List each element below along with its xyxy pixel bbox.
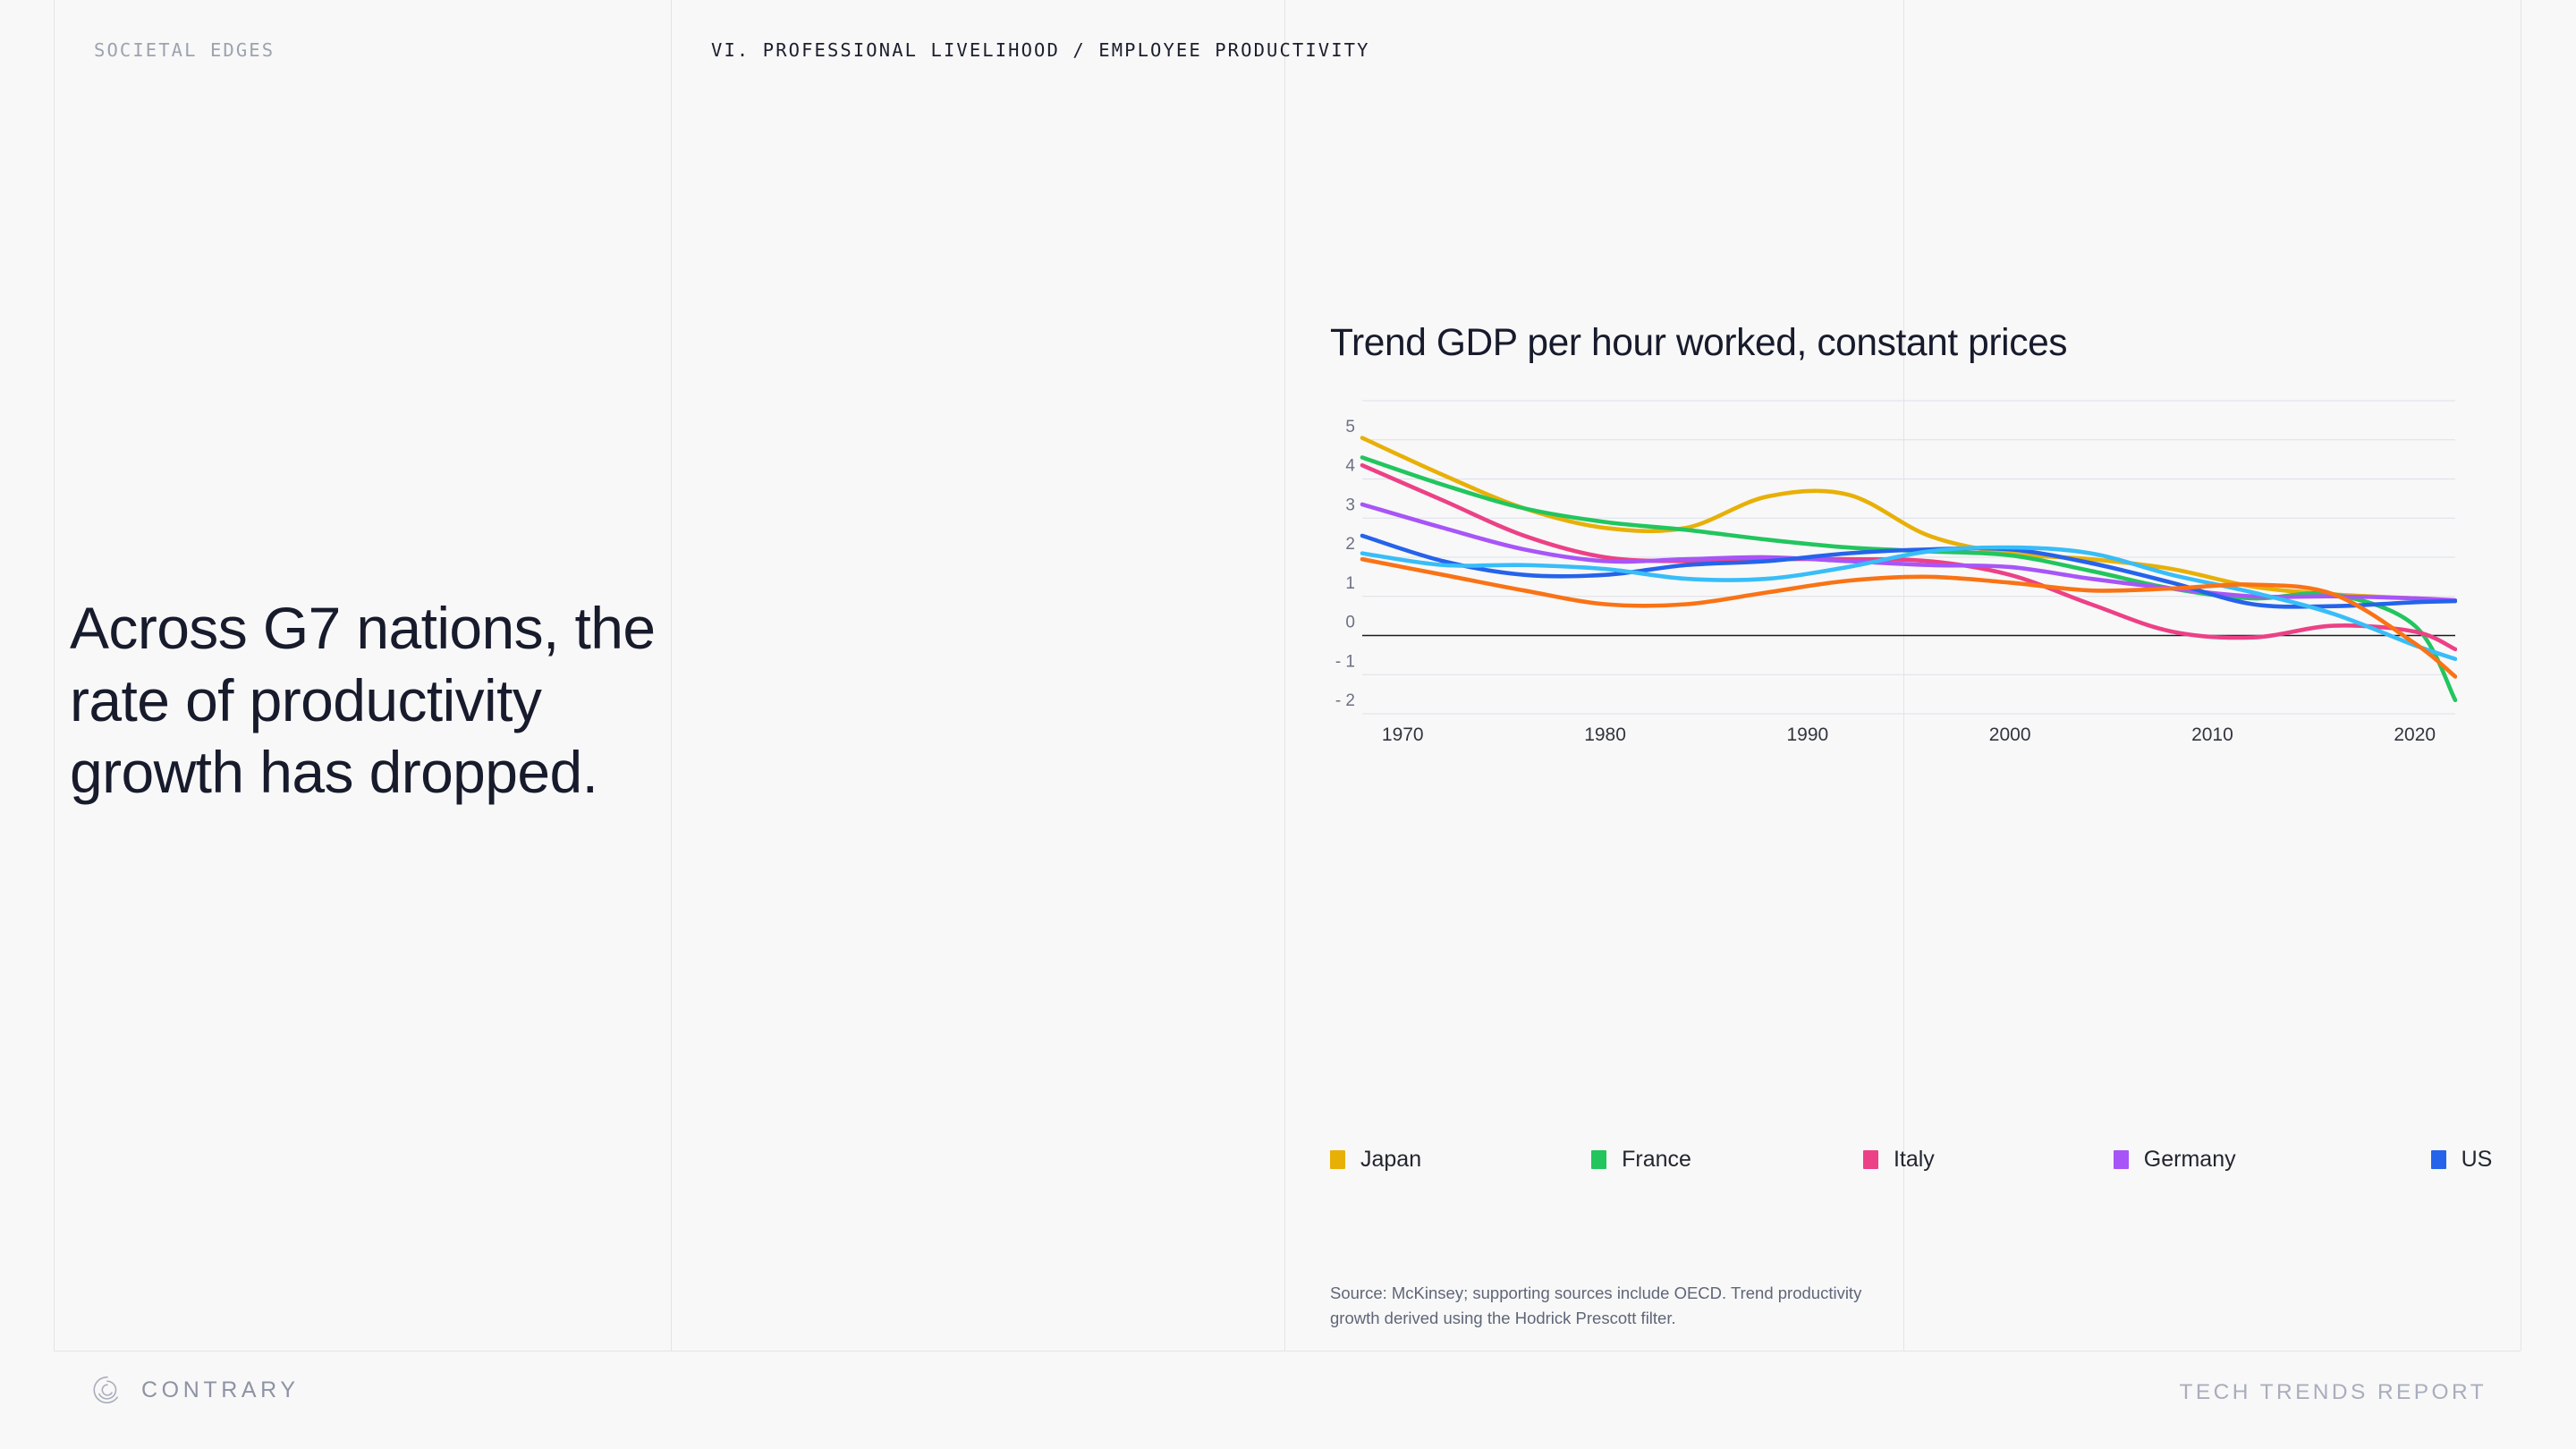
slide-page: SOCIETAL EDGES VI. PROFESSIONAL LIVELIHO…	[0, 0, 2576, 1449]
header-section-label: SOCIETAL EDGES	[94, 39, 275, 61]
chart-container: Trend GDP per hour worked, constant pric…	[1330, 322, 2457, 755]
legend-swatch-icon	[2431, 1150, 2446, 1169]
column-rule-1	[54, 0, 55, 1351]
x-axis-tick-label: 1980	[1584, 724, 1626, 745]
y-axis-tick-label: - 1	[1335, 652, 1355, 671]
footer-brand-name: CONTRARY	[141, 1377, 300, 1403]
chart-legend: JapanFranceItalyGermanyUSUKCanada	[1330, 1147, 2576, 1173]
chart-svg: 6543210- 1- 2197019801990200020102020	[1330, 397, 2457, 755]
y-axis-tick-label: 0	[1345, 614, 1355, 632]
footer-brand-group: CONTRARY	[92, 1375, 300, 1405]
column-rule-3	[1284, 0, 1285, 1351]
legend-label: Japan	[1360, 1147, 1421, 1173]
x-axis-tick-label: 2020	[2394, 724, 2436, 745]
legend-label: Italy	[1894, 1147, 1935, 1173]
x-axis-tick-label: 1990	[1786, 724, 1828, 745]
y-axis-tick-label: 3	[1345, 496, 1355, 514]
headline-line-1: Across G7 nations, the	[70, 592, 875, 665]
contrary-spiral-icon	[92, 1375, 123, 1405]
x-axis-tick-label: 2000	[1989, 724, 2031, 745]
chart-source-note: Source: McKinsey; supporting sources inc…	[1330, 1281, 1885, 1331]
legend-swatch-icon	[2114, 1150, 2129, 1169]
headline-line-2: rate of productivity	[70, 665, 875, 737]
chart-title: Trend GDP per hour worked, constant pric…	[1330, 322, 2457, 365]
legend-label: France	[1622, 1147, 1691, 1173]
page-title: Across G7 nations, the rate of productiv…	[70, 592, 875, 809]
legend-label: US	[2462, 1147, 2493, 1173]
header-breadcrumb: VI. PROFESSIONAL LIVELIHOOD / EMPLOYEE P…	[711, 39, 1370, 61]
footer-divider	[54, 1351, 2521, 1352]
y-axis-tick-label: 2	[1345, 535, 1355, 554]
x-axis-tick-label: 1970	[1382, 724, 1424, 745]
legend-item-italy[interactable]: Italy	[1863, 1147, 1935, 1173]
line-chart-plot: 6543210- 1- 2197019801990200020102020	[1330, 397, 2457, 755]
y-axis-tick-label: - 2	[1335, 691, 1355, 710]
legend-swatch-icon	[1330, 1150, 1345, 1169]
legend-label: Germany	[2144, 1147, 2236, 1173]
legend-swatch-icon	[1591, 1150, 1606, 1169]
footer-report-label: TECH TRENDS REPORT	[2180, 1380, 2487, 1405]
y-axis-tick-label: 1	[1345, 574, 1355, 593]
y-axis-tick-label: 5	[1345, 418, 1355, 436]
y-axis-tick-label: 4	[1345, 457, 1355, 476]
legend-item-france[interactable]: France	[1591, 1147, 1691, 1173]
legend-swatch-icon	[1863, 1150, 1878, 1169]
legend-item-japan[interactable]: Japan	[1330, 1147, 1421, 1173]
legend-item-germany[interactable]: Germany	[2114, 1147, 2236, 1173]
legend-item-us[interactable]: US	[2431, 1147, 2493, 1173]
headline-line-3: growth has dropped.	[70, 736, 875, 809]
x-axis-tick-label: 2010	[2191, 724, 2233, 745]
